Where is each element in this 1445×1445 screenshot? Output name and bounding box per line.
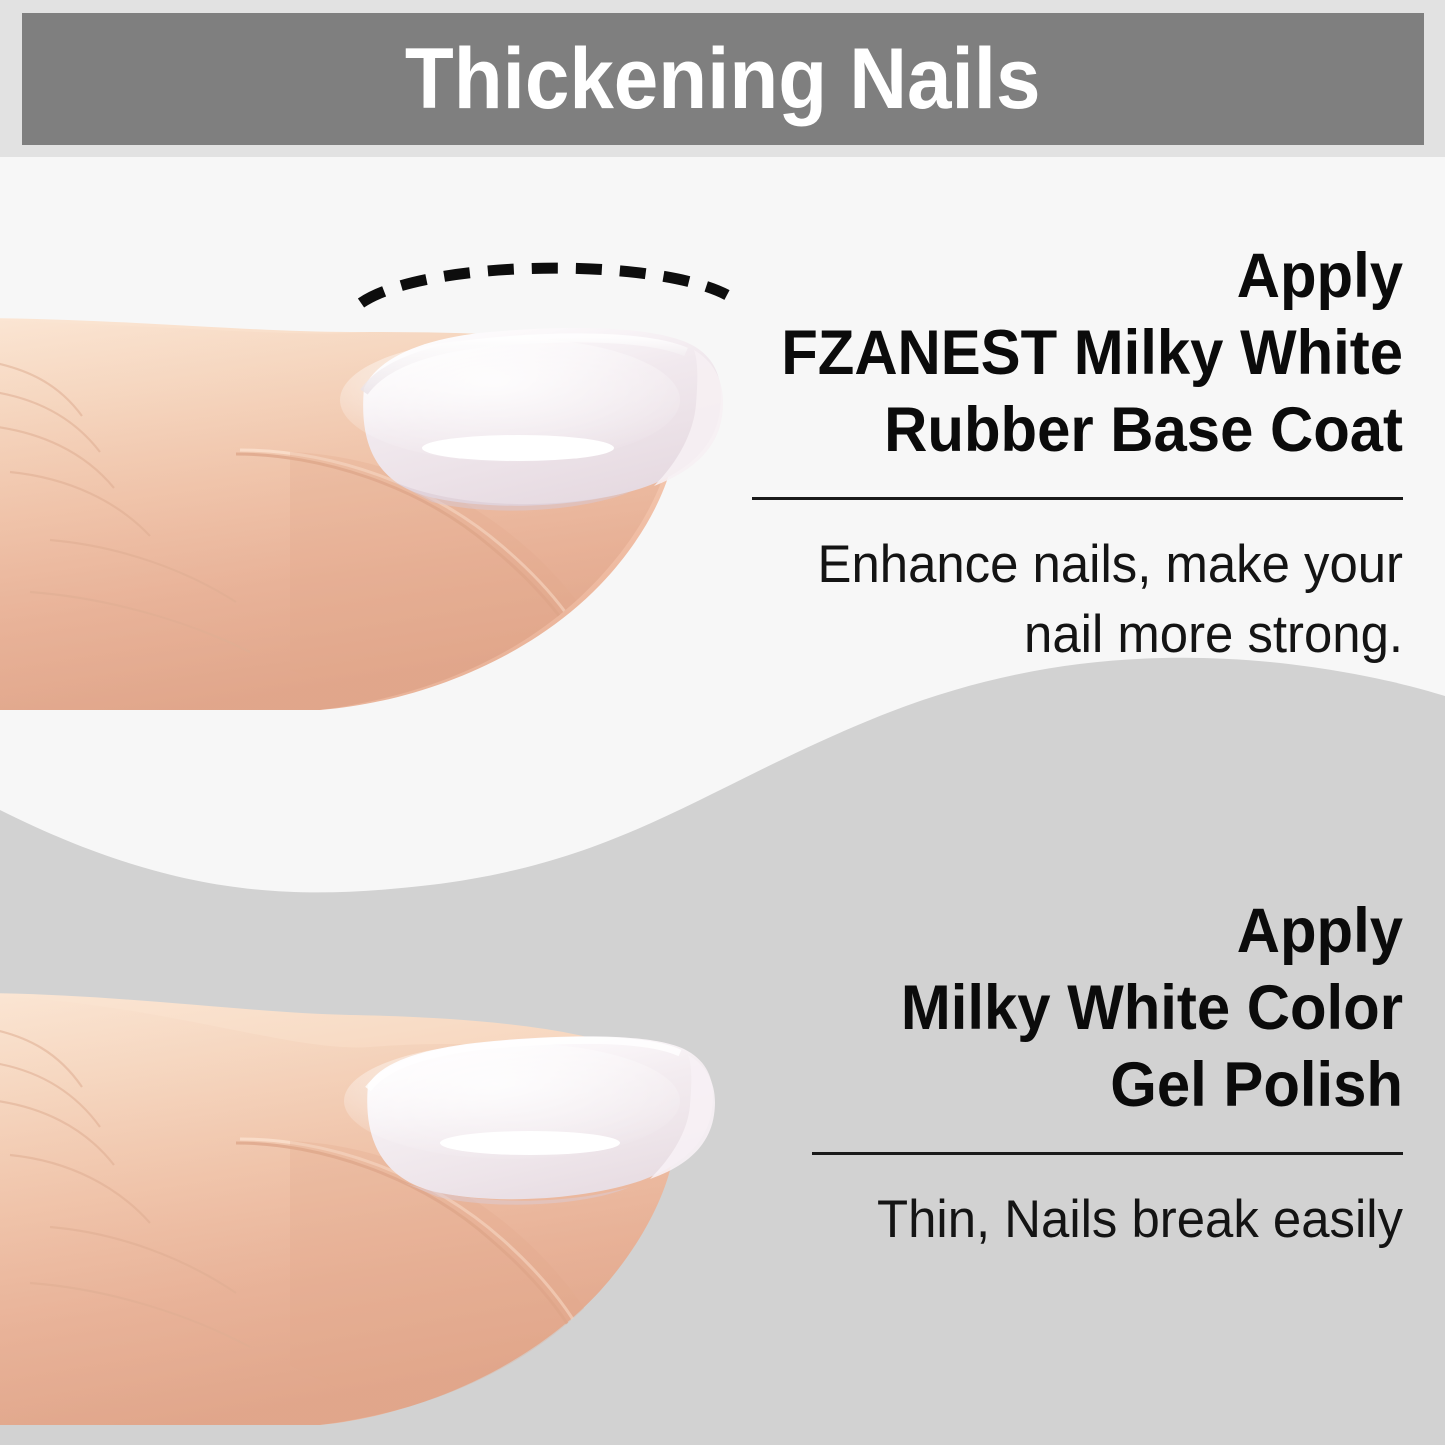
- thin-nail-caption: Thin, Nails break easily: [750, 1185, 1403, 1255]
- thin-nail-headline-line-1: Apply: [757, 893, 1403, 970]
- thin-nail-fingertip-photo: [0, 965, 750, 1425]
- header-bar: Thickening Nails: [22, 13, 1424, 145]
- nail-curve-dashed-arc-icon: [355, 245, 735, 315]
- infographic-canvas: Thickening Nails: [0, 0, 1445, 1445]
- thick-nail-copy-block: Apply FZANEST Milky White Rubber Base Co…: [723, 238, 1403, 669]
- thin-nail-divider-rule: [812, 1152, 1403, 1155]
- header-frame: Thickening Nails: [0, 0, 1445, 157]
- thin-nail-caption-line-1: Thin, Nails break easily: [750, 1185, 1403, 1255]
- nail-specular-highlight: [422, 435, 614, 461]
- thick-nail-caption: Enhance nails, make your nail more stron…: [750, 530, 1403, 670]
- thin-nail-headline-line-3: Gel Polish: [757, 1047, 1403, 1124]
- thick-nail-caption-line-1: Enhance nails, make your: [750, 530, 1403, 600]
- thin-nail-copy-block: Apply Milky White Color Gel Polish Thin,…: [723, 893, 1403, 1255]
- thick-nail-headline-line-2: FZANEST Milky White: [757, 315, 1403, 392]
- thick-nail-headline-line-1: Apply: [757, 238, 1403, 315]
- nail-specular-highlight: [440, 1131, 620, 1155]
- page-title: Thickening Nails: [405, 36, 1041, 122]
- thick-nail-caption-line-2: nail more strong.: [750, 600, 1403, 670]
- thin-nail-headline-line-2: Milky White Color: [757, 970, 1403, 1047]
- thick-nail-divider-rule: [752, 497, 1403, 500]
- thick-nail-headline-line-3: Rubber Base Coat: [757, 392, 1403, 469]
